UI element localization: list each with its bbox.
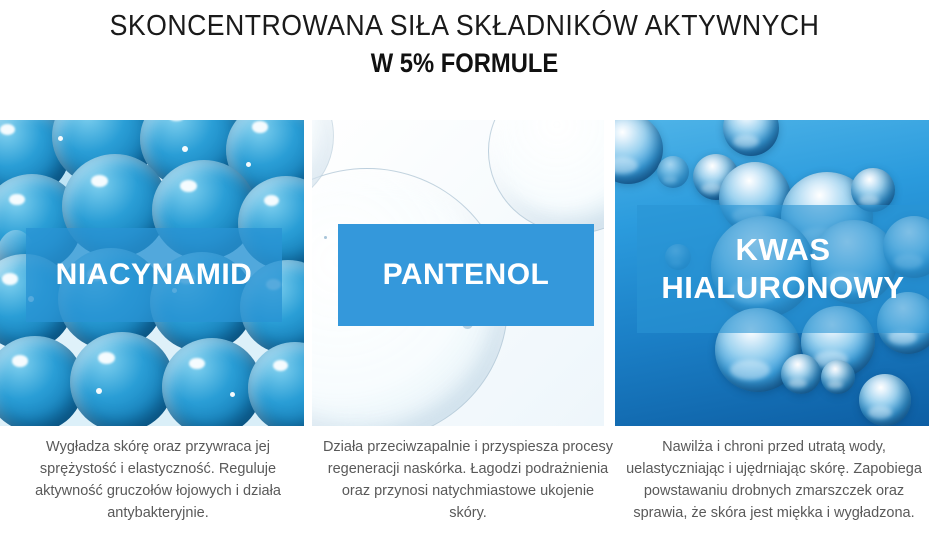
ingredient-label-niacynamid: NIACYNAMID [26, 228, 282, 322]
ingredient-panels: NIACYNAMID PANTENOL [0, 120, 929, 426]
ingredient-label-kwas-hialuronowy: KWAS HIALURONOWY [637, 205, 929, 333]
caption-niacynamid: Wygładza skórę oraz przywraca jej spręży… [8, 436, 308, 524]
ingredient-banner: SKONCENTROWANA SIŁA SKŁADNIKÓW AKTYWNYCH… [0, 0, 929, 552]
ingredient-label-text: NIACYNAMID [56, 258, 253, 292]
ingredient-card-niacynamid[interactable]: NIACYNAMID [0, 120, 304, 426]
headline-primary: SKONCENTROWANA SIŁA SKŁADNIKÓW AKTYWNYCH [37, 0, 892, 46]
ingredient-label-text-line2: HIALURONOWY [661, 269, 904, 307]
caption-kwas-hialuronowy: Nawilża i chroni przed utratą wody, uela… [624, 436, 924, 524]
ingredient-captions: Wygładza skórę oraz przywraca jej spręży… [0, 436, 929, 552]
ingredient-label-pantenol: PANTENOL [338, 224, 594, 326]
banner-heading: SKONCENTROWANA SIŁA SKŁADNIKÓW AKTYWNYCH… [0, 0, 929, 80]
ingredient-label-text-line1: KWAS [736, 231, 831, 269]
ingredient-card-kwas-hialuronowy[interactable]: KWAS HIALURONOWY [615, 120, 929, 426]
ingredient-label-text: PANTENOL [383, 258, 550, 292]
headline-secondary: W 5% FORMULE [56, 46, 874, 80]
ingredient-card-pantenol[interactable]: PANTENOL [312, 120, 604, 426]
caption-pantenol: Działa przeciwzapalnie i przyspiesza pro… [322, 436, 614, 524]
